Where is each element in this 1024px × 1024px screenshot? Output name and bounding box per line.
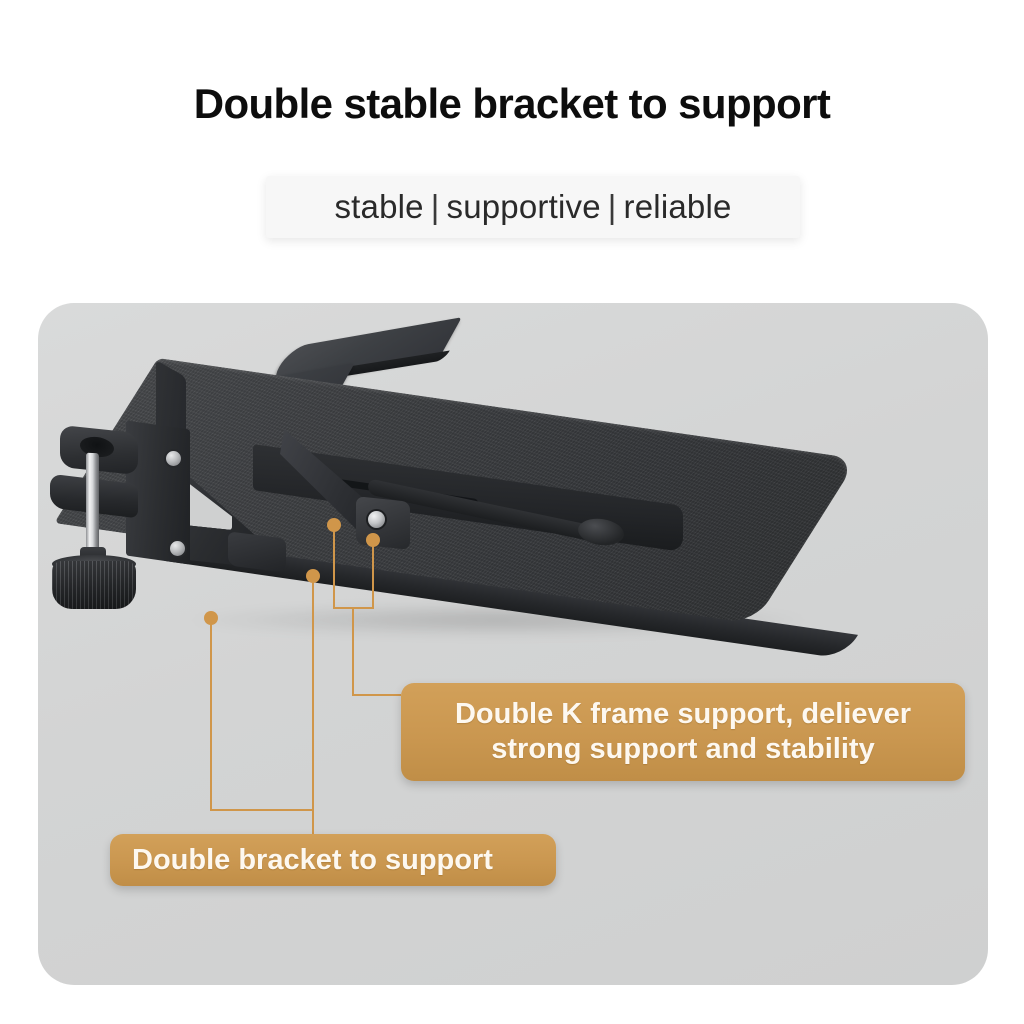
callout-k-frame-line1: Double K frame support, deliever — [455, 698, 911, 730]
callout-k-frame-line2: strong support and stability — [491, 733, 874, 765]
clamp-knob — [52, 561, 136, 609]
mount-bolt-lower — [170, 541, 185, 556]
mount-bolt-upper — [166, 451, 181, 466]
subtitle-separator-2: | — [601, 188, 624, 225]
subtitle-item-supportive: supportive — [447, 188, 601, 225]
k-frame-left-foot — [228, 531, 286, 572]
subtitle-pill: stable|supportive|reliable — [266, 176, 800, 238]
subtitle-item-reliable: reliable — [624, 188, 732, 225]
callout-bracket-line1: Double bracket to support — [132, 844, 493, 877]
subtitle-separator-1: | — [424, 188, 447, 225]
k-frame-right-bolt — [368, 511, 385, 528]
page-title: Double stable bracket to support — [0, 80, 1024, 128]
subtitle-text: stable|supportive|reliable — [334, 188, 731, 226]
callout-bracket: Double bracket to support — [110, 834, 556, 886]
infographic-canvas: Double stable bracket to support stable|… — [0, 0, 1024, 1024]
callout-k-frame: Double K frame support, deliever strong … — [401, 683, 965, 781]
subtitle-item-stable: stable — [334, 188, 423, 225]
